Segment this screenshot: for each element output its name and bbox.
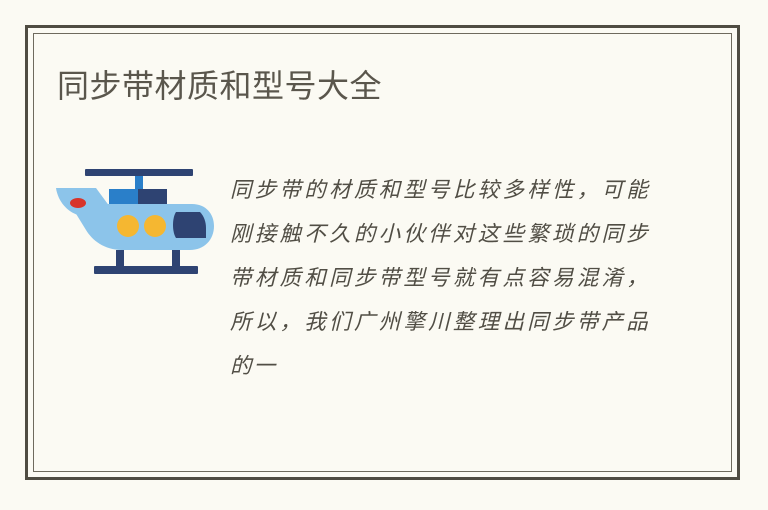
page-title: 同步带材质和型号大全 <box>57 66 382 106</box>
helicopter-icon <box>52 160 224 278</box>
article-card: 同步带材质和型号大全 <box>0 0 768 510</box>
card-content: 同步带材质和型号大全 <box>0 0 768 510</box>
article-paragraph: 同步带的材质和型号比较多样性，可能刚接触不久的小伙伴对这些繁琐的同步带材质和同步… <box>230 168 650 388</box>
